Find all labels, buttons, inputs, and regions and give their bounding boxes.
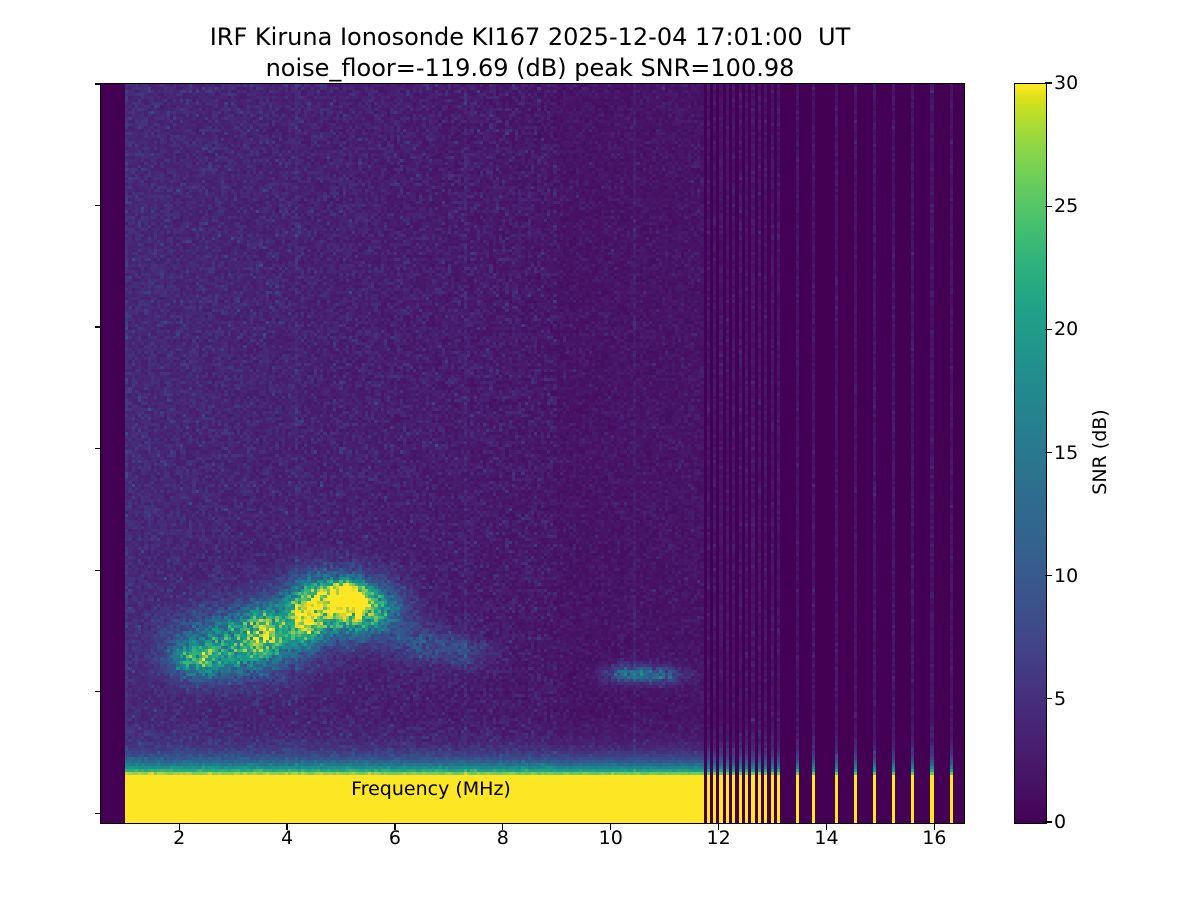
ionogram-heatmap (101, 84, 964, 823)
x-tick-label: 14 (814, 827, 838, 849)
ionogram-figure: IRF Kiruna Ionosonde KI167 2025-12-04 17… (0, 0, 1200, 900)
colorbar-tick-mark (1045, 821, 1052, 822)
y-axis-label-wrap: Virtual range (km) (28, 83, 29, 822)
y-tick-mark (95, 326, 102, 327)
y-tick-mark (95, 691, 102, 692)
y-tick-mark (95, 448, 102, 449)
x-tick-label: 8 (497, 827, 509, 849)
x-tick-label: 6 (389, 827, 401, 849)
x-axis-label: Frequency (MHz) (351, 778, 511, 800)
colorbar-tick-label: 15 (1054, 442, 1078, 464)
colorbar-tick-label: 5 (1054, 688, 1066, 710)
y-tick-mark (95, 83, 102, 84)
y-tick-mark (95, 813, 102, 814)
y-tick-mark (95, 205, 102, 206)
colorbar-tick-label: 20 (1054, 318, 1078, 340)
title-line-1: IRF Kiruna Ionosonde KI167 2025-12-04 17… (0, 22, 1060, 53)
colorbar-tick-label: 10 (1054, 565, 1078, 587)
title-line-2: noise_floor=-119.69 (dB) peak SNR=100.98 (0, 53, 1060, 84)
colorbar-tick-label: 30 (1054, 72, 1078, 94)
colorbar-tick-mark (1045, 82, 1052, 83)
figure-title: IRF Kiruna Ionosonde KI167 2025-12-04 17… (0, 22, 1060, 84)
colorbar-tick-label: 25 (1054, 195, 1078, 217)
colorbar-tick-label: 0 (1054, 811, 1066, 833)
colorbar-tick-mark (1045, 698, 1052, 699)
colorbar-tick-mark (1045, 452, 1052, 453)
colorbar-label: SNR (dB) (1089, 409, 1111, 494)
colorbar-tick-mark (1045, 329, 1052, 330)
ionogram-axes: 0100200300400500600 246810121416 (100, 83, 965, 824)
x-tick-label: 10 (599, 827, 623, 849)
y-tick-mark (95, 570, 102, 571)
heatmap-canvas (101, 84, 964, 823)
x-tick-label: 2 (173, 827, 185, 849)
x-tick-label: 16 (922, 827, 946, 849)
x-tick-label: 12 (706, 827, 730, 849)
x-tick-label: 4 (281, 827, 293, 849)
colorbar (1014, 83, 1047, 824)
colorbar-tick-mark (1045, 575, 1052, 576)
colorbar-tick-mark (1045, 206, 1052, 207)
